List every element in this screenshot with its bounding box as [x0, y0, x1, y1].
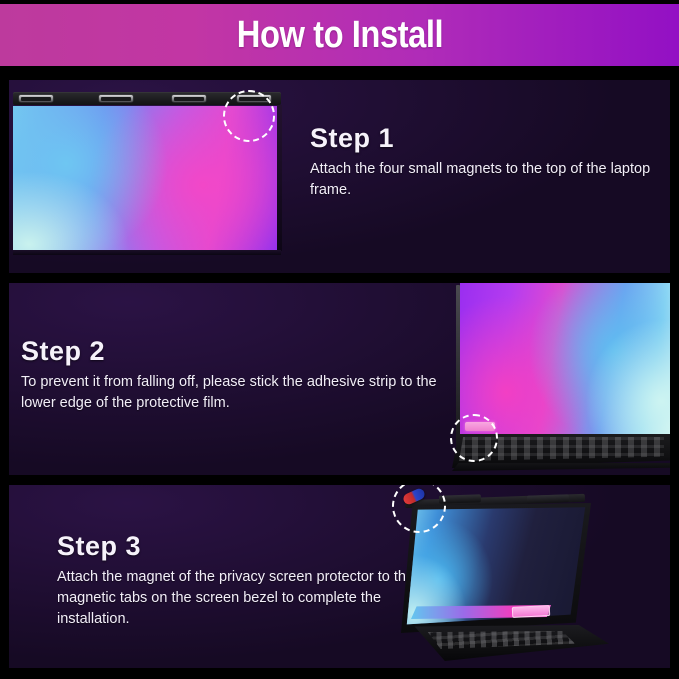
page-title: How to Install	[236, 16, 442, 54]
step-2-title: Step 2	[21, 337, 441, 365]
step-3-panel: Step 3 Attach the magnet of the privacy …	[9, 485, 670, 668]
step-2-panel: Step 2 To prevent it from falling off, p…	[9, 283, 670, 475]
header-banner: How to Install	[0, 4, 679, 66]
highlight-circle-step-2	[450, 414, 498, 462]
screen-right-edge	[277, 105, 282, 251]
panel-gap-1	[0, 273, 679, 283]
magnet-tab-1	[19, 95, 53, 102]
bottom-margin	[0, 668, 679, 679]
highlight-circle-step-1	[223, 90, 275, 142]
header-bottom-margin	[0, 66, 679, 73]
laptop-base	[452, 463, 670, 471]
bezel-magnet-tab-2	[527, 494, 569, 503]
how-to-install-infographic: How to Install Step 1 Attach the four sm…	[0, 0, 679, 679]
panel-gap-2	[0, 475, 679, 485]
magnet-tab-2	[99, 95, 133, 102]
magnet-tab-3	[172, 95, 206, 102]
screen-bottom-edge	[13, 250, 281, 255]
step-1-title: Step 1	[310, 124, 660, 152]
step-3-body: Attach the magnet of the privacy screen …	[57, 567, 417, 629]
step-2-body: To prevent it from falling off, please s…	[21, 372, 441, 413]
step-1-text-block: Step 1 Attach the four small magnets to …	[310, 124, 660, 201]
step-3-text-block: Step 3 Attach the magnet of the privacy …	[57, 532, 417, 629]
step-2-text-block: Step 2 To prevent it from falling off, p…	[21, 337, 441, 414]
step-1-body: Attach the four small magnets to the top…	[310, 159, 660, 200]
adhesive-strip	[512, 605, 551, 618]
highlight-circle-step-3	[392, 479, 446, 533]
laptop-screen-gradient	[460, 283, 670, 435]
step-1-panel: Step 1 Attach the four small magnets to …	[9, 80, 670, 273]
step-3-title: Step 3	[57, 532, 417, 560]
